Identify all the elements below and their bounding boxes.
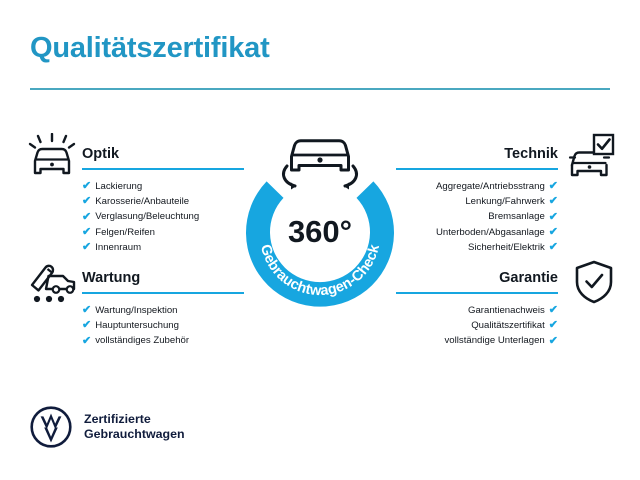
footer-text-block: Zertifizierte Gebrauchtwagen <box>84 412 185 442</box>
list-item: ✔vollständiges Zubehör <box>82 333 244 348</box>
check-icon: ✔ <box>549 336 558 347</box>
footer-line-2: Gebrauchtwagen <box>84 427 185 442</box>
check-icon: ✔ <box>549 181 558 192</box>
section-wartung: Wartung ✔Wartung/Inspektion ✔Hauptunters… <box>82 270 244 349</box>
page-title: Qualitätszertifikat <box>30 32 270 65</box>
check-icon: ✔ <box>549 320 558 331</box>
list-item: Qualitätszertifikat✔ <box>396 318 558 333</box>
check-icon: ✔ <box>82 305 91 316</box>
list-item: Aggregate/Antriebsstrang✔ <box>396 179 558 194</box>
check-icon: ✔ <box>82 181 91 192</box>
list-item-label: Felgen/Reifen <box>95 225 155 240</box>
car-checkbox-icon <box>568 133 616 184</box>
check-icon: ✔ <box>549 227 558 238</box>
list-item-label: Aggregate/Antriebsstrang <box>436 179 545 194</box>
list-item: Sicherheit/Elektrik✔ <box>396 240 558 255</box>
check-icon: ✔ <box>549 305 558 316</box>
list-item-label: Unterboden/Abgasanlage <box>436 225 545 240</box>
header-divider <box>30 88 610 90</box>
car-shine-icon <box>27 133 77 184</box>
check-icon: ✔ <box>549 196 558 207</box>
list-item: ✔Verglasung/Beleuchtung <box>82 209 244 224</box>
list-item: ✔Lackierung <box>82 179 244 194</box>
check-icon: ✔ <box>549 242 558 253</box>
section-title-optik: Optik <box>82 146 244 163</box>
section-list-garantie: Garantienachweis✔ Qualitätszertifikat✔ v… <box>396 303 558 349</box>
list-item-label: Lackierung <box>95 179 142 194</box>
section-rule-optik <box>82 168 244 170</box>
footer: Zertifizierte Gebrauchtwagen <box>30 406 185 448</box>
list-item-label: vollständiges Zubehör <box>95 333 189 348</box>
section-title-technik: Technik <box>396 146 558 163</box>
list-item-label: Lenkung/Fahrwerk <box>465 194 544 209</box>
list-item: Unterboden/Abgasanlage✔ <box>396 225 558 240</box>
list-item: ✔Hauptuntersuchung <box>82 318 244 333</box>
list-item-label: Innenraum <box>95 240 141 255</box>
car-rotate-icon <box>284 141 357 190</box>
list-item-label: vollständige Unterlagen <box>445 333 545 348</box>
section-garantie: Garantie Garantienachweis✔ Qualitätszert… <box>396 270 558 349</box>
check-icon: ✔ <box>82 212 91 223</box>
list-item: Lenkung/Fahrwerk✔ <box>396 194 558 209</box>
check-icon: ✔ <box>82 227 91 238</box>
list-item: ✔Karosserie/Anbauteile <box>82 194 244 209</box>
list-item: Bremsanlage✔ <box>396 209 558 224</box>
list-item: ✔Felgen/Reifen <box>82 225 244 240</box>
list-item: ✔Innenraum <box>82 240 244 255</box>
section-rule-technik <box>396 168 558 170</box>
section-list-optik: ✔Lackierung ✔Karosserie/Anbauteile ✔Verg… <box>82 179 244 255</box>
car-service-icon <box>27 259 79 310</box>
check-icon: ✔ <box>82 336 91 347</box>
section-rule-wartung <box>82 292 244 294</box>
list-item-label: Verglasung/Beleuchtung <box>95 209 199 224</box>
list-item-label: Wartung/Inspektion <box>95 303 177 318</box>
vw-logo <box>30 406 72 448</box>
check-icon: ✔ <box>549 212 558 223</box>
list-item: Garantienachweis✔ <box>396 303 558 318</box>
check-icon: ✔ <box>82 320 91 331</box>
section-title-garantie: Garantie <box>396 270 558 287</box>
section-list-technik: Aggregate/Antriebsstrang✔ Lenkung/Fahrwe… <box>396 179 558 255</box>
section-technik: Technik Aggregate/Antriebsstrang✔ Lenkun… <box>396 146 558 255</box>
list-item-label: Sicherheit/Elektrik <box>468 240 545 255</box>
section-title-wartung: Wartung <box>82 270 244 287</box>
list-item-label: Hauptuntersuchung <box>95 318 179 333</box>
certificate-page: Qualitätszertifikat Optik ✔Lackierung ✔K… <box>0 0 640 480</box>
list-item-label: Qualitätszertifikat <box>471 318 545 333</box>
360-check-badge: 360° Gebrauchtwagen-Check <box>246 118 394 312</box>
badge-center-label: 360° <box>288 214 352 249</box>
check-icon: ✔ <box>82 196 91 207</box>
section-list-wartung: ✔Wartung/Inspektion ✔Hauptuntersuchung ✔… <box>82 303 244 349</box>
section-optik: Optik ✔Lackierung ✔Karosserie/Anbauteile… <box>82 146 244 255</box>
list-item: ✔Wartung/Inspektion <box>82 303 244 318</box>
list-item-label: Garantienachweis <box>468 303 545 318</box>
section-rule-garantie <box>396 292 558 294</box>
check-icon: ✔ <box>82 242 91 253</box>
shield-check-icon <box>574 260 614 309</box>
list-item: vollständige Unterlagen✔ <box>396 333 558 348</box>
footer-line-1: Zertifizierte <box>84 412 185 427</box>
list-item-label: Karosserie/Anbauteile <box>95 194 189 209</box>
list-item-label: Bremsanlage <box>488 209 545 224</box>
